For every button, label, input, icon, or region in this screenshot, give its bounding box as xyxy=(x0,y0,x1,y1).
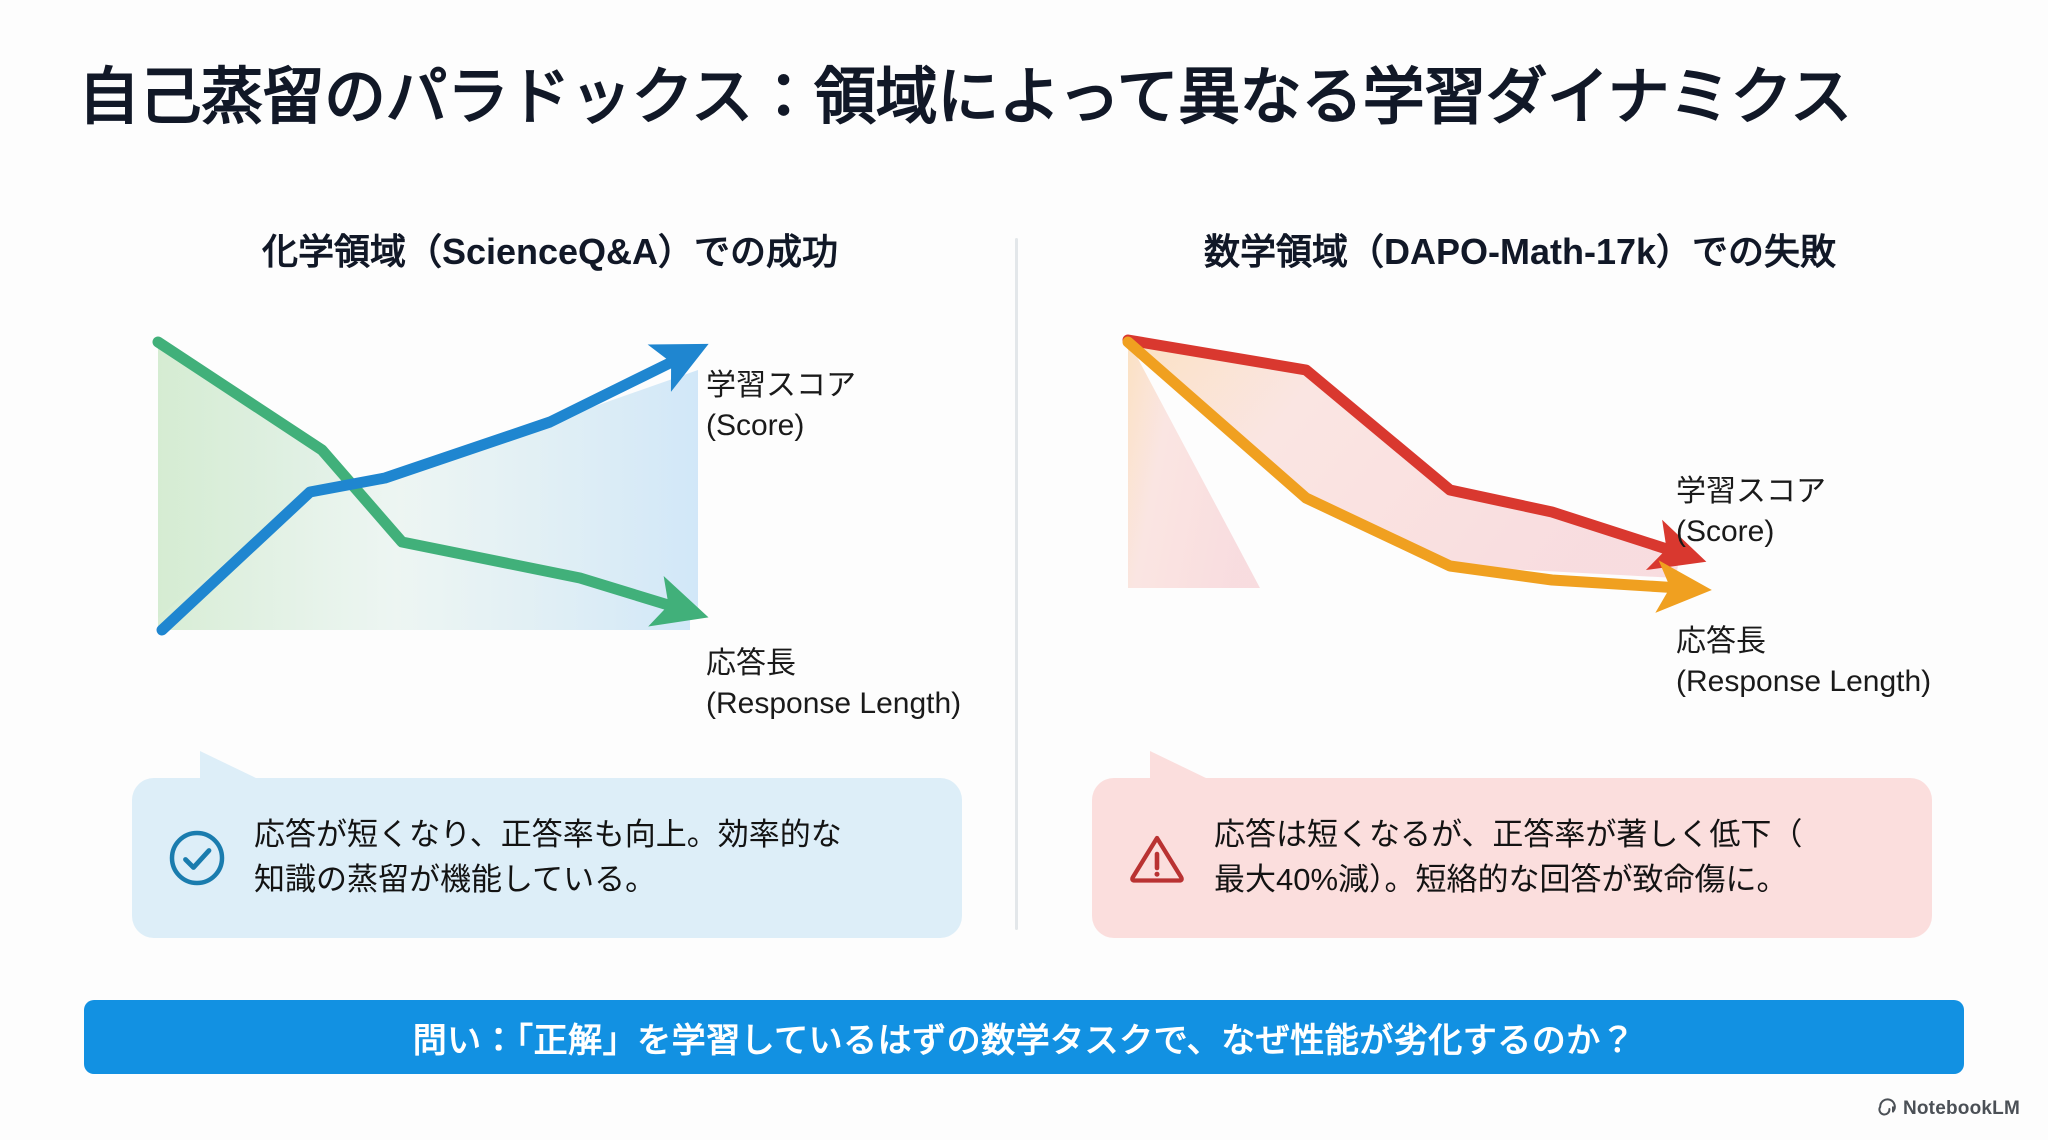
chart-right xyxy=(1120,330,1760,610)
panel-divider xyxy=(1015,238,1018,930)
panel-right: 数学領域（DAPO-Math-17k）での失敗 xyxy=(1060,230,1990,273)
notebooklm-watermark-label: NotebookLM xyxy=(1903,1098,2020,1120)
callout-left-line-2: 知識の蒸留が機能している。 xyxy=(254,858,842,903)
callout-right-line-2: 最大40%減）。短絡的な回答が致命傷に。 xyxy=(1214,858,1802,903)
notebooklm-spiral-icon xyxy=(1876,1096,1896,1122)
question-banner: 問い：「正解」を学習しているはずの数学タスクで、なぜ性能が劣化するのか？ xyxy=(84,1000,1964,1074)
chart-right-label-length-sub: (Response Length) xyxy=(1676,662,1931,702)
warning-triangle-icon xyxy=(1126,827,1188,889)
slide-root: 自己蒸留のパラドックス：領域によって異なる学習ダイナミクス 化学領域（Scien… xyxy=(0,0,2048,1140)
chart-right-label-score: 学習スコア (Score) xyxy=(1676,472,1826,552)
check-circle-icon xyxy=(166,827,228,889)
panel-left-heading: 化学領域（ScienceQ&A）での成功 xyxy=(110,230,990,273)
callout-right-text: 応答は短くなるが、正答率が著しく低下（ 最大40%減）。短絡的な回答が致命傷に。 xyxy=(1214,813,1802,903)
callout-right-tail xyxy=(1150,751,1208,779)
page-title: 自己蒸留のパラドックス：領域によって異なる学習ダイナミクス xyxy=(78,62,1978,133)
panel-left: 化学領域（ScienceQ&A）での成功 xyxy=(90,230,990,273)
chart-right-label-score-main: 学習スコア xyxy=(1676,475,1826,508)
callout-left-tail xyxy=(200,751,258,779)
chart-left xyxy=(150,330,770,650)
chart-right-label-score-sub: (Score) xyxy=(1676,512,1826,552)
chart-right-label-length: 応答長 (Response Length) xyxy=(1676,622,1931,702)
chart-left-label-length-sub: (Response Length) xyxy=(706,684,961,724)
chart-left-label-score: 学習スコア (Score) xyxy=(706,366,856,446)
callout-left: 応答が短くなり、正答率も向上。効率的な 知識の蒸留が機能している。 xyxy=(132,778,962,938)
chart-left-label-length: 応答長 (Response Length) xyxy=(706,644,961,724)
callout-left-line-1: 応答が短くなり、正答率も向上。効率的な xyxy=(254,813,842,858)
notebooklm-watermark: NotebookLM xyxy=(1876,1096,2020,1122)
chart-left-svg xyxy=(150,330,770,650)
callout-right-line-1: 応答は短くなるが、正答率が著しく低下（ xyxy=(1214,813,1802,858)
question-banner-text: 問い：「正解」を学習しているはずの数学タスクで、なぜ性能が劣化するのか？ xyxy=(413,1013,1636,1062)
chart-left-label-score-sub: (Score) xyxy=(706,406,856,446)
callout-right: 応答は短くなるが、正答率が著しく低下（ 最大40%減）。短絡的な回答が致命傷に。 xyxy=(1092,778,1932,938)
panel-right-heading: 数学領域（DAPO-Math-17k）での失敗 xyxy=(1050,230,1990,273)
chart-left-label-score-main: 学習スコア xyxy=(706,369,856,402)
chart-left-label-length-main: 応答長 xyxy=(706,647,796,680)
chart-right-label-length-main: 応答長 xyxy=(1676,625,1766,658)
chart-right-svg xyxy=(1120,330,1760,610)
callout-left-text: 応答が短くなり、正答率も向上。効率的な 知識の蒸留が機能している。 xyxy=(254,813,842,903)
